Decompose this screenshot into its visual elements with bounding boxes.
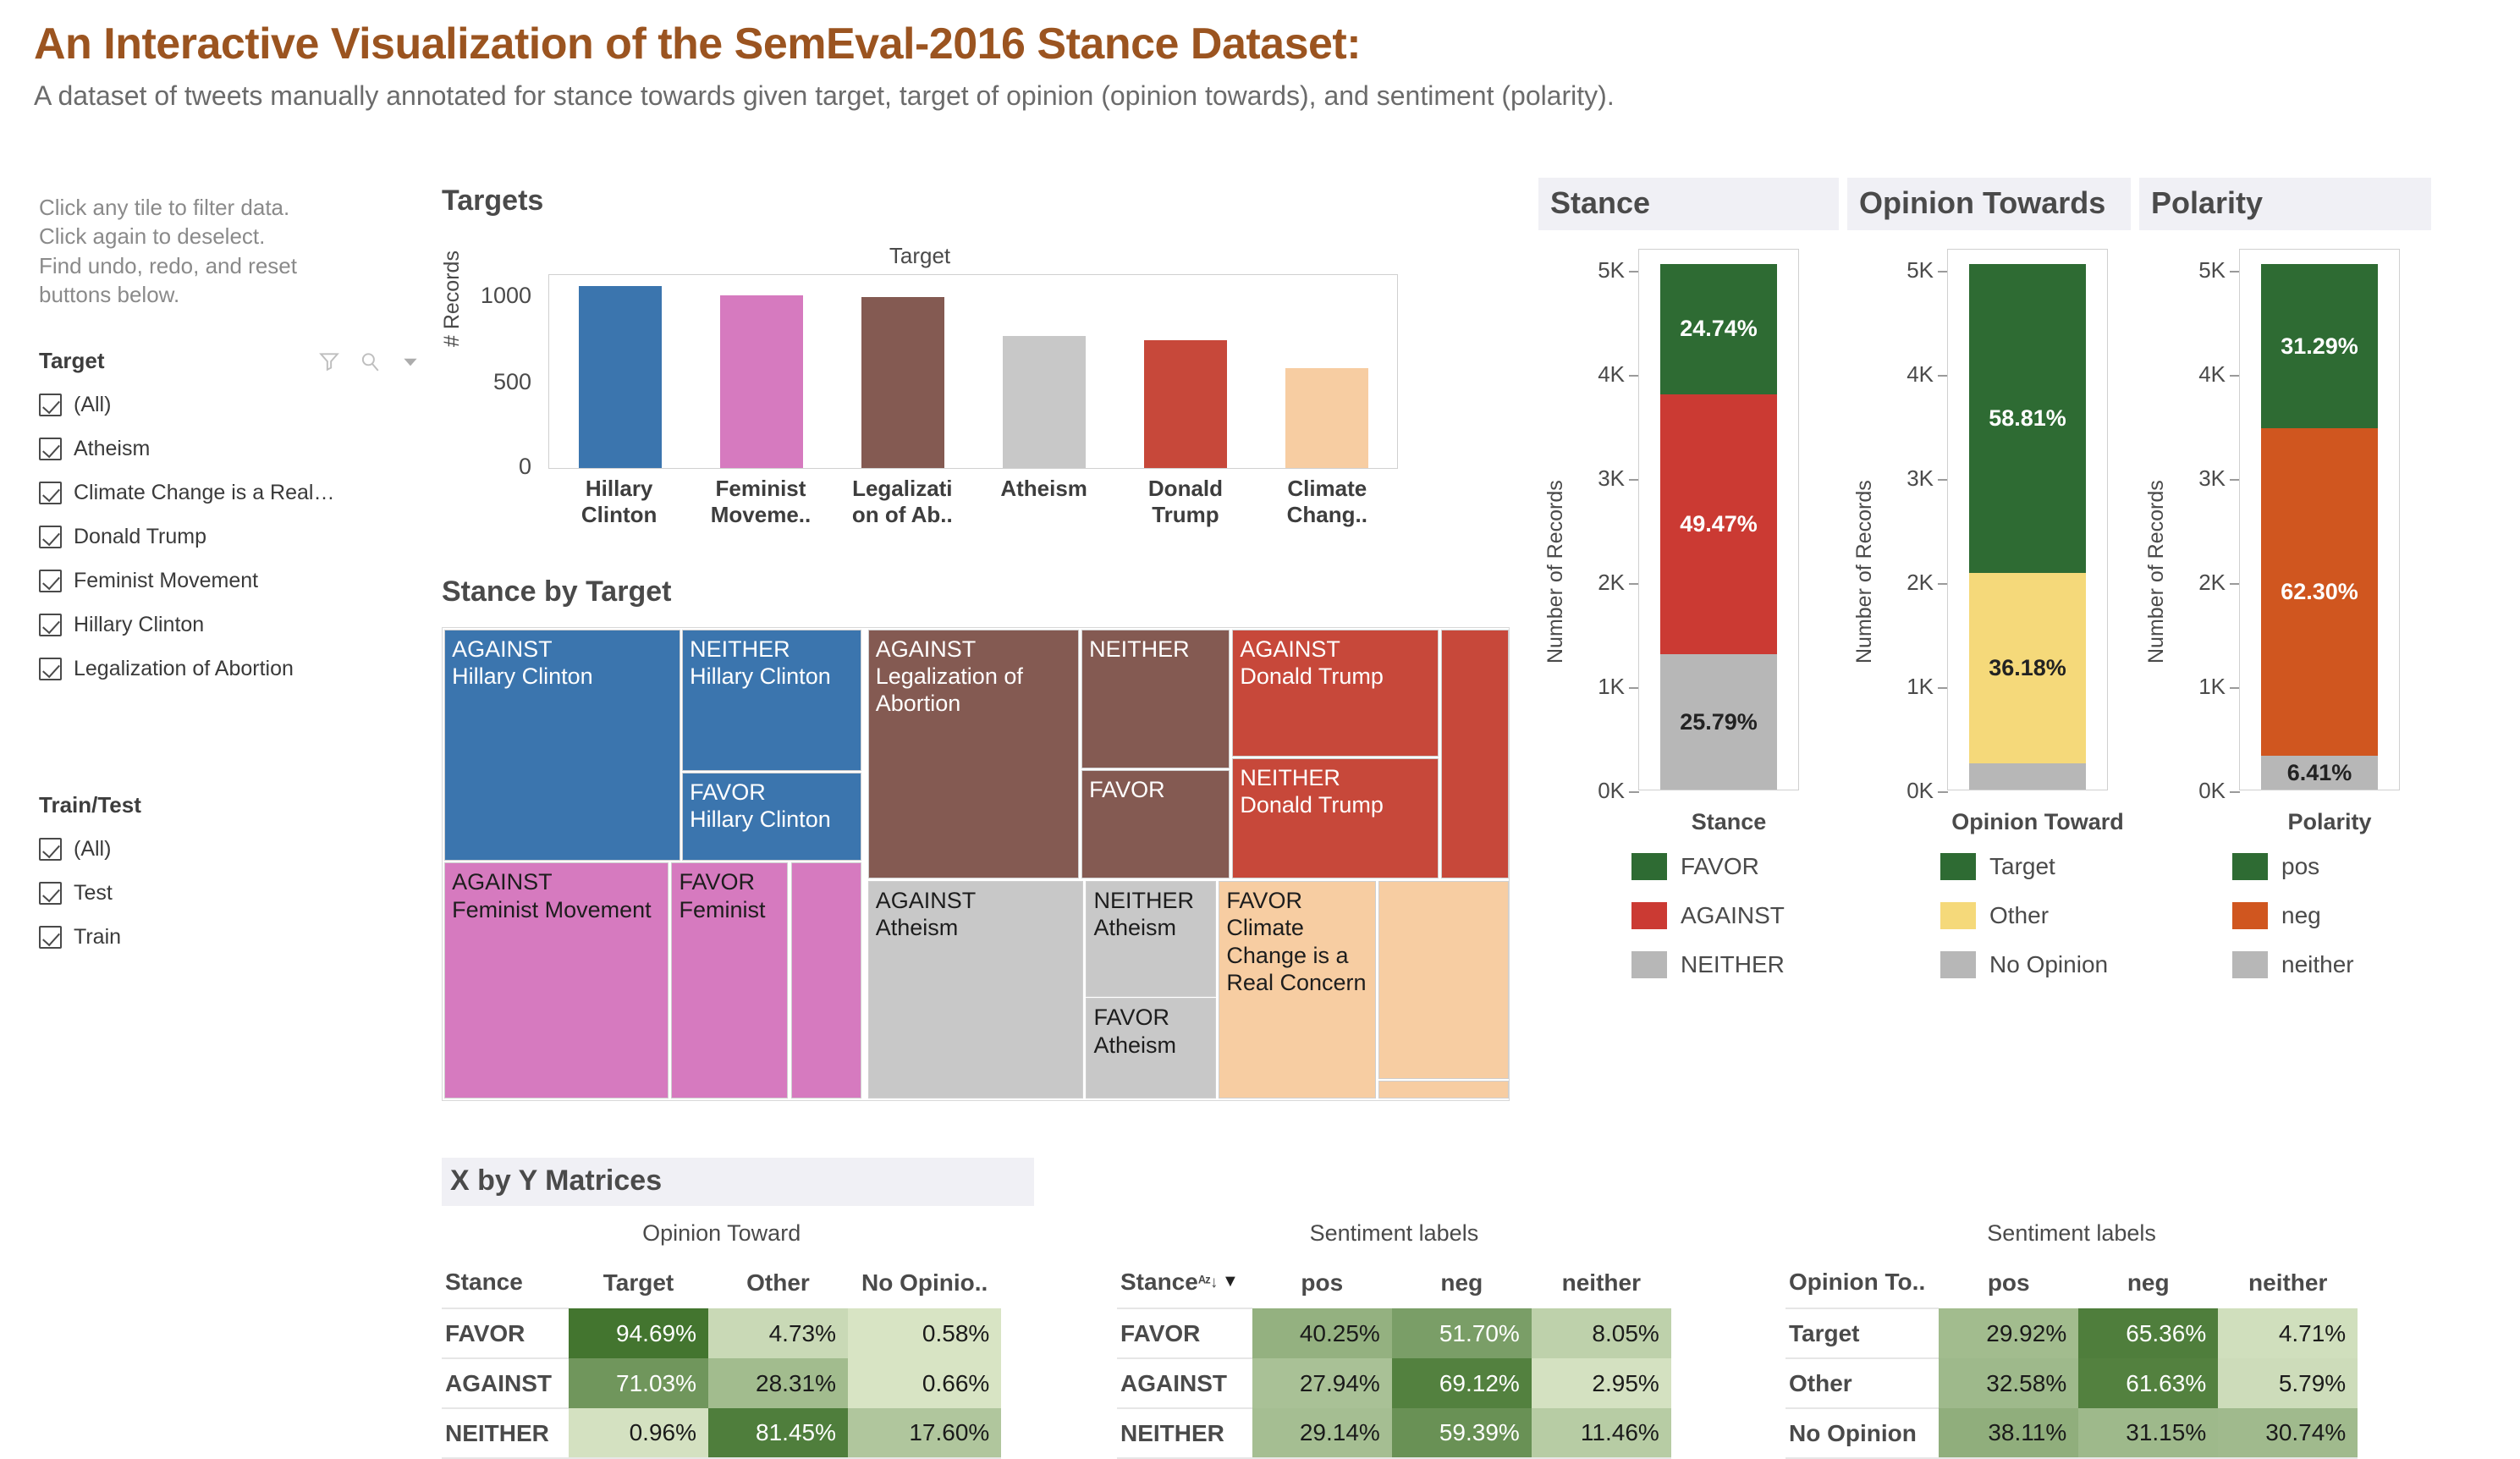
opinion-stacked-legend: Opinion TowardTargetOtherNo Opinion bbox=[1940, 809, 2135, 989]
checkbox-icon[interactable] bbox=[39, 526, 62, 548]
matrix-stance-by-sentiment: Sentiment labelsStanceᴬᶻ↓ ▼posnegneither… bbox=[1117, 1220, 1671, 1459]
hint-line: Click any tile to filter data. bbox=[39, 193, 437, 222]
traintest-filter-item-label: (All) bbox=[74, 837, 111, 862]
legend-item[interactable]: Target bbox=[1940, 842, 2135, 891]
target-filter-item-label: Hillary Clinton bbox=[74, 613, 204, 637]
treemap-tile-stance: FAVOR bbox=[1226, 887, 1368, 914]
matrix-column-header[interactable]: neither bbox=[2218, 1269, 2358, 1308]
legend-swatch-icon bbox=[1940, 951, 1976, 978]
treemap-tile[interactable] bbox=[1378, 1081, 1509, 1098]
stacked-bar-segment[interactable]: 62.30% bbox=[2261, 428, 2378, 756]
polarity-panel: PolarityNumber of Records0K1K2K3K4K5K31.… bbox=[2139, 178, 2431, 841]
matrix-row-label: AGAINST bbox=[1117, 1358, 1252, 1408]
treemap-panel: Stance by Target AGAINSTHillary ClintonN… bbox=[442, 575, 1516, 1101]
treemap-tile-stance: AGAINST bbox=[452, 636, 673, 663]
checkbox-icon[interactable] bbox=[39, 658, 62, 680]
matrix-cell[interactable]: 2.95% bbox=[1532, 1358, 1671, 1408]
matrix-cell[interactable]: 59.39% bbox=[1392, 1408, 1532, 1458]
stance-stacked-y-tick: 1K bbox=[1562, 674, 1625, 700]
targets-y-tick: 0 bbox=[454, 454, 531, 480]
matrix-cell[interactable]: 69.12% bbox=[1392, 1358, 1532, 1408]
dashboard-root: An Interactive Visualization of the SemE… bbox=[0, 0, 2520, 1457]
matrix-cell[interactable]: 71.03% bbox=[569, 1358, 708, 1408]
legend-swatch-icon bbox=[2232, 951, 2268, 978]
treemap-tile[interactable]: FAVOR bbox=[1081, 770, 1230, 878]
matrix-cell[interactable]: 17.60% bbox=[848, 1408, 1001, 1458]
opinion-stacked-y-tick: 1K bbox=[1871, 674, 1934, 700]
legend-item-label: neg bbox=[2281, 902, 2321, 929]
target-bar[interactable] bbox=[720, 295, 803, 468]
matrix-row: No Opinion38.11%31.15%30.74% bbox=[1785, 1408, 2358, 1458]
treemap-tile-stance: FAVOR bbox=[1089, 776, 1222, 803]
polarity-stacked-y-tick: 2K bbox=[2163, 570, 2226, 596]
treemap-tile[interactable] bbox=[1378, 881, 1509, 1079]
matrix-row: NEITHER29.14%59.39%11.46% bbox=[1117, 1408, 1671, 1458]
legend-swatch-icon bbox=[1631, 902, 1667, 929]
stance-stacked-y-tick: 4K bbox=[1562, 361, 1625, 388]
target-filter-item[interactable]: Hillary Clinton bbox=[39, 603, 437, 647]
matrix-cell[interactable]: 51.70% bbox=[1392, 1308, 1532, 1358]
matrix-cell[interactable]: 61.63% bbox=[2078, 1358, 2218, 1408]
stacked-bar-segment[interactable] bbox=[1969, 763, 2086, 790]
legend-swatch-icon bbox=[2232, 853, 2268, 880]
matrix-cell[interactable]: 0.58% bbox=[848, 1308, 1001, 1358]
legend-item[interactable]: NEITHER bbox=[1631, 940, 1826, 989]
target-filter-label: Target bbox=[39, 348, 105, 374]
treemap-tile-target: Donald Trump bbox=[1240, 663, 1431, 690]
stance-stacked-y-tick: 3K bbox=[1562, 465, 1625, 492]
matrix-cell[interactable]: 8.05% bbox=[1532, 1308, 1671, 1358]
matrix-cell[interactable]: 94.69% bbox=[569, 1308, 708, 1358]
matrix-table: Opinion To..posnegneitherTarget29.92%65.… bbox=[1785, 1269, 2358, 1459]
legend-item[interactable]: neither bbox=[2232, 940, 2427, 989]
treemap-tile-target: Feminist Movement bbox=[452, 896, 661, 923]
treemap-tile-stance: AGAINST bbox=[1240, 636, 1431, 663]
matrix-cell[interactable]: 27.94% bbox=[1252, 1358, 1392, 1408]
stance-stacked-plot-area: 24.74%49.47%25.79% bbox=[1638, 249, 1799, 790]
targets-chart-title: Target bbox=[442, 243, 1398, 269]
treemap-tile[interactable]: AGAINSTHillary Clinton bbox=[444, 630, 680, 861]
filters-sidebar: Click any tile to filter data. Click aga… bbox=[39, 193, 437, 959]
matrix-row-label: NEITHER bbox=[442, 1408, 569, 1458]
matrix-row: NEITHER0.96%81.45%17.60% bbox=[442, 1408, 1001, 1458]
legend-swatch-icon bbox=[2232, 902, 2268, 929]
treemap-tile-stance: NEITHER bbox=[1089, 636, 1222, 663]
polarity-stacked-y-tick: 1K bbox=[2163, 674, 2226, 700]
traintest-filter-item-label: Train bbox=[74, 925, 121, 950]
matrix-row-header[interactable]: Stanceᴬᶻ↓ ▼ bbox=[1117, 1269, 1252, 1308]
legend-item[interactable]: Other bbox=[1940, 891, 2135, 940]
treemap-tile[interactable]: NEITHERAtheism bbox=[1086, 881, 1216, 997]
targets-x-tick[interactable]: Legalization of Ab.. bbox=[841, 476, 964, 527]
page-subtitle: A dataset of tweets manually annotated f… bbox=[34, 80, 2520, 112]
treemap-tile[interactable]: AGAINSTDonald Trump bbox=[1232, 630, 1439, 757]
stacked-bar-segment[interactable]: 25.79% bbox=[1660, 654, 1777, 790]
matrix-table: Stanceᴬᶻ↓ ▼posnegneitherFAVOR40.25%51.70… bbox=[1117, 1269, 1671, 1459]
matrix-column-header[interactable]: Other bbox=[708, 1269, 848, 1308]
legend-item-label: No Opinion bbox=[1989, 951, 2108, 978]
treemap-panel-title: Stance by Target bbox=[442, 575, 1516, 608]
matrix-column-header[interactable]: neither bbox=[1532, 1269, 1671, 1308]
matrix-cell[interactable]: 0.96% bbox=[569, 1408, 708, 1458]
matrix-cell[interactable]: 29.14% bbox=[1252, 1408, 1392, 1458]
stacked-bar[interactable]: 24.74%49.47%25.79% bbox=[1660, 250, 1777, 790]
stance-stacked-y-tick: 2K bbox=[1562, 570, 1625, 596]
matrix-column-header[interactable]: pos bbox=[1252, 1269, 1392, 1308]
checkbox-icon[interactable] bbox=[39, 482, 62, 504]
checkbox-icon[interactable] bbox=[39, 614, 62, 636]
legend-item[interactable]: pos bbox=[2232, 842, 2427, 891]
caret-down-icon[interactable]: ▼ bbox=[1217, 1272, 1238, 1291]
checkbox-icon[interactable] bbox=[39, 926, 62, 949]
page-title: An Interactive Visualization of the SemE… bbox=[34, 20, 2520, 69]
opinion-stacked-chart[interactable]: Number of Records0K1K2K3K4K5K58.81%36.18… bbox=[1847, 249, 2131, 841]
treemap-tile-stance: NEITHER bbox=[1240, 764, 1431, 791]
stance-stacked-chart[interactable]: Number of Records0K1K2K3K4K5K24.74%49.47… bbox=[1538, 249, 1839, 841]
matrix-cell[interactable]: 81.45% bbox=[708, 1408, 848, 1458]
bar-top-spacer bbox=[1660, 250, 1777, 264]
matrix-super-header: Sentiment labels bbox=[1785, 1220, 2358, 1247]
matrix-row-label: No Opinion bbox=[1785, 1408, 1939, 1458]
hint-text: Click any tile to filter data. Click aga… bbox=[39, 193, 437, 309]
polarity-stacked-y-tick: 5K bbox=[2163, 257, 2226, 284]
polarity-stacked-y-tick: 3K bbox=[2163, 465, 2226, 492]
matrix-cell[interactable]: 38.11% bbox=[1939, 1408, 2078, 1458]
opinion-stacked-y-tick: 3K bbox=[1871, 465, 1934, 492]
stacked-bar[interactable]: 58.81%36.18% bbox=[1969, 250, 2086, 790]
targets-y-tick: 1000 bbox=[454, 283, 531, 309]
legend-title: Stance bbox=[1631, 809, 1826, 835]
opinion-stacked-title: Opinion Towards bbox=[1847, 178, 2131, 230]
target-filter-item-label: Atheism bbox=[74, 437, 150, 461]
target-bar[interactable] bbox=[1003, 336, 1086, 468]
target-filter-item[interactable]: Donald Trump bbox=[39, 515, 437, 559]
matrix-cell[interactable]: 4.71% bbox=[2218, 1308, 2358, 1358]
stacked-bar-segment[interactable]: 58.81% bbox=[1969, 264, 2086, 573]
treemap-tile-stance: NEITHER bbox=[1093, 887, 1208, 914]
treemap-tile-stance: FAVOR bbox=[1093, 1004, 1208, 1031]
matrix-column-header[interactable]: pos bbox=[1939, 1269, 2078, 1308]
targets-plot-area bbox=[548, 274, 1398, 469]
legend-item[interactable]: No Opinion bbox=[1940, 940, 2135, 989]
legend-swatch-icon bbox=[1631, 951, 1667, 978]
treemap-tile[interactable]: NEITHERHillary Clinton bbox=[682, 630, 861, 771]
matrix-row-label: FAVOR bbox=[1117, 1308, 1252, 1358]
treemap-tile-stance: AGAINST bbox=[876, 887, 1076, 914]
target-filter-item[interactable]: Feminist Movement bbox=[39, 559, 437, 603]
matrix-row: Other32.58%61.63%5.79% bbox=[1785, 1358, 2358, 1408]
opinion-stacked-y-tick: 0K bbox=[1871, 778, 1934, 804]
treemap-tile[interactable]: AGAINSTAtheism bbox=[868, 881, 1084, 1098]
treemap-tile-target: Atheism bbox=[1093, 914, 1208, 941]
target-filter-item[interactable]: Atheism bbox=[39, 427, 437, 471]
sort-az-icon[interactable]: ᴬᶻ↓ bbox=[1198, 1274, 1218, 1291]
matrix-opinion-by-sentiment: Sentiment labelsOpinion To..posnegneithe… bbox=[1785, 1220, 2358, 1459]
treemap-tile-stance: AGAINST bbox=[876, 636, 1071, 663]
legend-item-label: NEITHER bbox=[1681, 951, 1785, 978]
target-bar[interactable] bbox=[1285, 368, 1368, 468]
matrix-row: AGAINST71.03%28.31%0.66% bbox=[442, 1358, 1001, 1408]
traintest-filter-label: Train/Test bbox=[39, 792, 141, 818]
treemap-tile-target: Legalization of Abortion bbox=[876, 663, 1071, 718]
hint-line: buttons below. bbox=[39, 280, 437, 309]
stacked-bar-segment[interactable]: 6.41% bbox=[2261, 756, 2378, 790]
hint-line: Click again to deselect. bbox=[39, 222, 437, 251]
targets-y-tick: 500 bbox=[454, 369, 531, 395]
matrix-column-header[interactable]: neg bbox=[2078, 1269, 2218, 1308]
polarity-stacked-title: Polarity bbox=[2139, 178, 2431, 230]
traintest-filter-item[interactable]: (All) bbox=[39, 827, 437, 871]
matrix-column-header[interactable]: neg bbox=[1392, 1269, 1532, 1308]
matrix-row-label: Target bbox=[1785, 1308, 1939, 1358]
filter-icon[interactable] bbox=[318, 350, 340, 372]
bar-top-spacer bbox=[2261, 250, 2378, 264]
opinion-panel: Opinion TowardsNumber of Records0K1K2K3K… bbox=[1847, 178, 2131, 841]
matrix-cell[interactable]: 32.58% bbox=[1939, 1358, 2078, 1408]
matrix-cell[interactable]: 30.74% bbox=[2218, 1408, 2358, 1458]
matrix-row-header[interactable]: Stance bbox=[442, 1269, 569, 1308]
treemap-tile[interactable] bbox=[791, 862, 862, 1098]
treemap-tile-target: Hillary Clinton bbox=[690, 806, 854, 833]
treemap-tile-stance: AGAINST bbox=[452, 868, 661, 895]
chevron-down-icon[interactable] bbox=[399, 350, 421, 372]
target-filter-item-label: Climate Change is a Real… bbox=[74, 481, 334, 505]
polarity-stacked-legend: Polarityposnegneither bbox=[2232, 809, 2427, 989]
treemap-tile[interactable]: FAVORFeminist bbox=[671, 862, 788, 1098]
targets-panel-title: Targets bbox=[442, 184, 1398, 217]
stance-by-target-treemap[interactable]: AGAINSTHillary ClintonNEITHERHillary Cli… bbox=[442, 627, 1510, 1101]
matrix-cell[interactable]: 40.25% bbox=[1252, 1308, 1392, 1358]
targets-x-tick[interactable]: HillaryClinton bbox=[558, 476, 680, 527]
stance-stacked-y-tick: 5K bbox=[1562, 257, 1625, 284]
legend-swatch-icon bbox=[1940, 902, 1976, 929]
target-filter-item-label: (All) bbox=[74, 393, 111, 417]
stacked-bar-segment[interactable]: 49.47% bbox=[1660, 394, 1777, 654]
matrix-super-header: Sentiment labels bbox=[1117, 1220, 1671, 1247]
matrices-panel-title-wrap: X by Y Matrices bbox=[442, 1158, 1034, 1206]
stance-stacked-title: Stance bbox=[1538, 178, 1839, 230]
target-filter: Target (All)AtheismClimate Change is a R… bbox=[39, 348, 437, 691]
treemap-tile-stance: NEITHER bbox=[690, 636, 854, 663]
stance-panel: StanceNumber of Records0K1K2K3K4K5K24.74… bbox=[1538, 178, 1839, 841]
stacked-bar-segment[interactable]: 36.18% bbox=[1969, 573, 2086, 763]
treemap-tile-stance: FAVOR bbox=[690, 779, 854, 806]
treemap-tile-target: Climate Change is a Real Concern bbox=[1226, 914, 1368, 996]
treemap-tile-target: Hillary Clinton bbox=[452, 663, 673, 690]
target-filter-item-label: Feminist Movement bbox=[74, 569, 258, 593]
treemap-tile-target: Feminist bbox=[679, 896, 780, 923]
matrix-row-label: FAVOR bbox=[442, 1308, 569, 1358]
target-filter-item-label: Donald Trump bbox=[74, 525, 206, 549]
matrix-cell[interactable]: 5.79% bbox=[2218, 1358, 2358, 1408]
checkbox-icon[interactable] bbox=[39, 438, 62, 460]
treemap-tile[interactable]: FAVORAtheism bbox=[1086, 998, 1216, 1098]
targets-bar-chart[interactable]: # Records 05001000 HillaryClintonFeminis… bbox=[442, 274, 1398, 553]
target-filter-item[interactable]: Climate Change is a Real… bbox=[39, 471, 437, 515]
traintest-filter: Train/Test (All)TestTrain bbox=[39, 792, 437, 959]
matrix-stance-by-opinion: Opinion TowardStanceTargetOtherNo Opinio… bbox=[442, 1220, 1001, 1459]
legend-title: Opinion Toward bbox=[1940, 809, 2135, 835]
matrix-header-row: Opinion To..posnegneither bbox=[1785, 1269, 2358, 1308]
polarity-stacked-chart[interactable]: Number of Records0K1K2K3K4K5K31.29%62.30… bbox=[2139, 249, 2431, 841]
legend-item-label: neither bbox=[2281, 951, 2354, 978]
legend-item-label: FAVOR bbox=[1681, 853, 1759, 880]
traintest-filter-item[interactable]: Train bbox=[39, 915, 437, 959]
traintest-filter-header: Train/Test bbox=[39, 792, 437, 818]
legend-item-label: AGAINST bbox=[1681, 902, 1785, 929]
stance-stacked-legend: StanceFAVORAGAINSTNEITHER bbox=[1631, 809, 1826, 989]
legend-item-label: Other bbox=[1989, 902, 2049, 929]
matrix-row: FAVOR94.69%4.73%0.58% bbox=[442, 1308, 1001, 1358]
legend-item[interactable]: neg bbox=[2232, 891, 2427, 940]
treemap-tile[interactable]: AGAINSTFeminist Movement bbox=[444, 862, 669, 1098]
treemap-tile-target: Atheism bbox=[876, 914, 1076, 941]
traintest-filter-item[interactable]: Test bbox=[39, 871, 437, 915]
traintest-filter-list: (All)TestTrain bbox=[39, 827, 437, 959]
matrix-row: FAVOR40.25%51.70%8.05% bbox=[1117, 1308, 1671, 1358]
opinion-stacked-y-tick: 2K bbox=[1871, 570, 1934, 596]
matrix-column-header[interactable]: Target bbox=[569, 1269, 708, 1308]
matrix-row-label: Other bbox=[1785, 1358, 1939, 1408]
checkbox-icon[interactable] bbox=[39, 394, 62, 416]
opinion-stacked-y-tick: 5K bbox=[1871, 257, 1934, 284]
page-header: An Interactive Visualization of the SemE… bbox=[0, 0, 2520, 112]
checkbox-icon[interactable] bbox=[39, 882, 62, 905]
matrix-header-row: Stanceᴬᶻ↓ ▼posnegneither bbox=[1117, 1269, 1671, 1308]
legend-item-label: Target bbox=[1989, 853, 2055, 880]
legend-title: Polarity bbox=[2232, 809, 2427, 835]
hint-line: Find undo, redo, and reset bbox=[39, 251, 437, 280]
treemap-tile-target: Atheism bbox=[1093, 1032, 1208, 1059]
target-filter-item[interactable]: (All) bbox=[39, 383, 437, 427]
matrix-cell[interactable]: 28.31% bbox=[708, 1358, 848, 1408]
treemap-tile-stance: FAVOR bbox=[679, 868, 780, 895]
opinion-stacked-y-tick: 4K bbox=[1871, 361, 1934, 388]
target-filter-header: Target bbox=[39, 348, 437, 374]
polarity-stacked-plot-area: 31.29%62.30%6.41% bbox=[2239, 249, 2400, 790]
matrix-cell[interactable]: 29.92% bbox=[1939, 1308, 2078, 1358]
matrix-table: StanceTargetOtherNo Opinio..FAVOR94.69%4… bbox=[442, 1269, 1001, 1459]
targets-x-tick[interactable]: Atheism bbox=[982, 476, 1105, 527]
traintest-filter-item-label: Test bbox=[74, 881, 113, 906]
treemap-tile[interactable]: NEITHERDonald Trump bbox=[1232, 758, 1439, 878]
stacked-bar-segment[interactable]: 31.29% bbox=[2261, 264, 2378, 428]
target-filter-list: (All)AtheismClimate Change is a Real…Don… bbox=[39, 383, 437, 691]
treemap-tile-target: Hillary Clinton bbox=[690, 663, 854, 690]
stacked-bar[interactable]: 31.29%62.30%6.41% bbox=[2261, 250, 2378, 790]
matrix-row: AGAINST27.94%69.12%2.95% bbox=[1117, 1358, 1671, 1408]
legend-item-label: pos bbox=[2281, 853, 2319, 880]
matrix-column-header[interactable]: No Opinio.. bbox=[848, 1269, 1001, 1308]
stacked-bar-segment[interactable]: 24.74% bbox=[1660, 264, 1777, 394]
treemap-tile[interactable]: AGAINSTLegalization of Abortion bbox=[868, 630, 1079, 879]
matrix-cell[interactable]: 11.46% bbox=[1532, 1408, 1671, 1458]
target-filter-item[interactable]: Legalization of Abortion bbox=[39, 647, 437, 691]
matrix-super-header: Opinion Toward bbox=[442, 1220, 1001, 1247]
treemap-tile-target: Donald Trump bbox=[1240, 791, 1431, 818]
target-bar[interactable] bbox=[579, 286, 662, 468]
matrix-cell[interactable]: 4.73% bbox=[708, 1308, 848, 1358]
bar-top-spacer bbox=[1969, 250, 2086, 264]
target-bar[interactable] bbox=[861, 297, 944, 468]
legend-item[interactable]: AGAINST bbox=[1631, 891, 1826, 940]
matrices-panel-title: X by Y Matrices bbox=[442, 1158, 1034, 1206]
target-bar[interactable] bbox=[1144, 340, 1227, 468]
polarity-stacked-y-tick: 0K bbox=[2163, 778, 2226, 804]
targets-x-ticks: HillaryClintonFeministMoveme..Legalizati… bbox=[548, 476, 1398, 527]
treemap-tile[interactable]: FAVORHillary Clinton bbox=[682, 773, 861, 861]
search-icon[interactable] bbox=[359, 350, 381, 372]
treemap-tile[interactable] bbox=[1441, 630, 1509, 879]
matrix-cell[interactable]: 31.15% bbox=[2078, 1408, 2218, 1458]
matrix-cell[interactable]: 65.36% bbox=[2078, 1308, 2218, 1358]
legend-swatch-icon bbox=[1940, 853, 1976, 880]
target-filter-item-label: Legalization of Abortion bbox=[74, 657, 294, 681]
targets-x-tick[interactable]: FeministMoveme.. bbox=[699, 476, 822, 527]
targets-panel: Targets Target # Records 05001000 Hillar… bbox=[442, 184, 1398, 553]
opinion-stacked-plot-area: 58.81%36.18% bbox=[1947, 249, 2108, 790]
treemap-tile[interactable]: NEITHER bbox=[1081, 630, 1230, 769]
targets-x-tick[interactable]: ClimateChang.. bbox=[1266, 476, 1389, 527]
matrix-row-label: NEITHER bbox=[1117, 1408, 1252, 1458]
legend-item[interactable]: FAVOR bbox=[1631, 842, 1826, 891]
stance-stacked-y-tick: 0K bbox=[1562, 778, 1625, 804]
legend-swatch-icon bbox=[1631, 853, 1667, 880]
treemap-tile[interactable]: FAVORClimate Change is a Real Concern bbox=[1219, 881, 1376, 1098]
matrix-header-row: StanceTargetOtherNo Opinio.. bbox=[442, 1269, 1001, 1308]
matrix-row: Target29.92%65.36%4.71% bbox=[1785, 1308, 2358, 1358]
matrix-row-header[interactable]: Opinion To.. bbox=[1785, 1269, 1939, 1308]
checkbox-icon[interactable] bbox=[39, 838, 62, 861]
targets-x-tick[interactable]: DonaldTrump bbox=[1124, 476, 1246, 527]
checkbox-icon[interactable] bbox=[39, 570, 62, 592]
polarity-stacked-y-tick: 4K bbox=[2163, 361, 2226, 388]
matrix-cell[interactable]: 0.66% bbox=[848, 1358, 1001, 1408]
matrix-row-label: AGAINST bbox=[442, 1358, 569, 1408]
